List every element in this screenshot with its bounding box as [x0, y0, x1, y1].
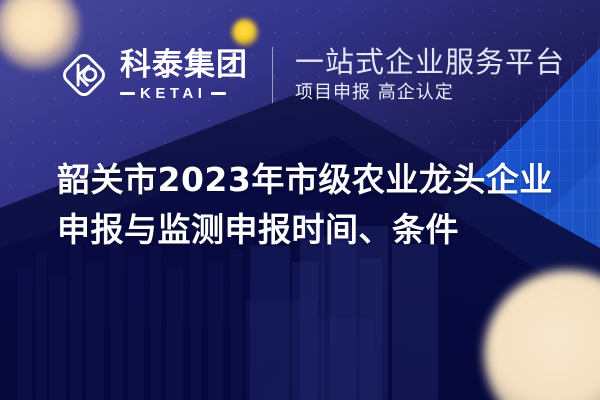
- brand-header: 科泰集团 KETAI 一站式企业服务平台 项目申报 高企认定: [57, 42, 565, 108]
- promo-banner: 科泰集团 KETAI 一站式企业服务平台 项目申报 高企认定 韶关市2023年市…: [0, 0, 600, 400]
- logo-rule-right: [211, 92, 226, 95]
- logo-wordmark: 科泰集团 KETAI: [120, 50, 248, 101]
- header-divider: [272, 47, 273, 103]
- logo-rule-left: [120, 92, 135, 95]
- logo-company-cn: 科泰集团: [120, 50, 248, 81]
- ketai-kp-monogram-icon: [57, 48, 111, 102]
- tagline-sub: 项目申报 高企认定: [295, 84, 565, 103]
- page-title: 韶关市2023年市级农业龙头企业申报与监测申报时间、条件: [57, 155, 562, 255]
- logo-en-row: KETAI: [120, 86, 248, 101]
- logo-company-en: KETAI: [140, 86, 206, 101]
- tagline-main: 一站式企业服务平台: [295, 47, 565, 77]
- brand-logo[interactable]: 科泰集团 KETAI: [57, 48, 248, 102]
- brand-tagline: 一站式企业服务平台 项目申报 高企认定: [295, 47, 565, 102]
